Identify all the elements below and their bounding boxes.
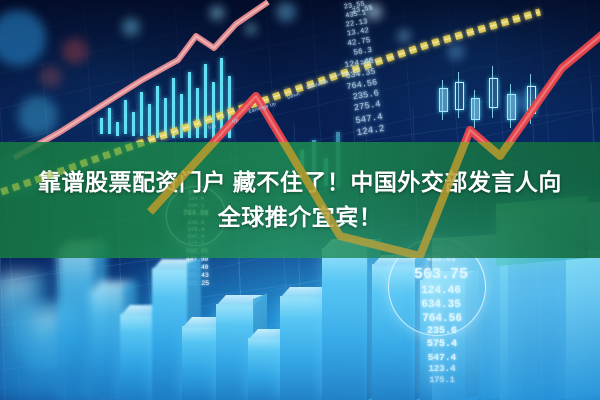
- bar: [322, 248, 368, 400]
- ticker-value: 175.1: [392, 375, 492, 386]
- bar: [280, 296, 324, 400]
- banner-image: 23.55 23.55 435.1 22.13 13.42 42.75 56.3…: [0, 0, 600, 400]
- ticker-value: 123.4: [392, 364, 492, 376]
- headline-line-1: 靠谱股票配资门户 藏不住了！中国外交部发言人向: [38, 165, 562, 200]
- headline-band: 靠谱股票配资门户 藏不住了！中国外交部发言人向 全球推介宜宾！: [0, 142, 600, 258]
- bar: [0, 282, 34, 400]
- headline-line-2: 全球推介宜宾！: [218, 200, 383, 235]
- bar: [58, 250, 94, 400]
- right-edge-slab: [566, 250, 600, 400]
- bar: [90, 290, 124, 400]
